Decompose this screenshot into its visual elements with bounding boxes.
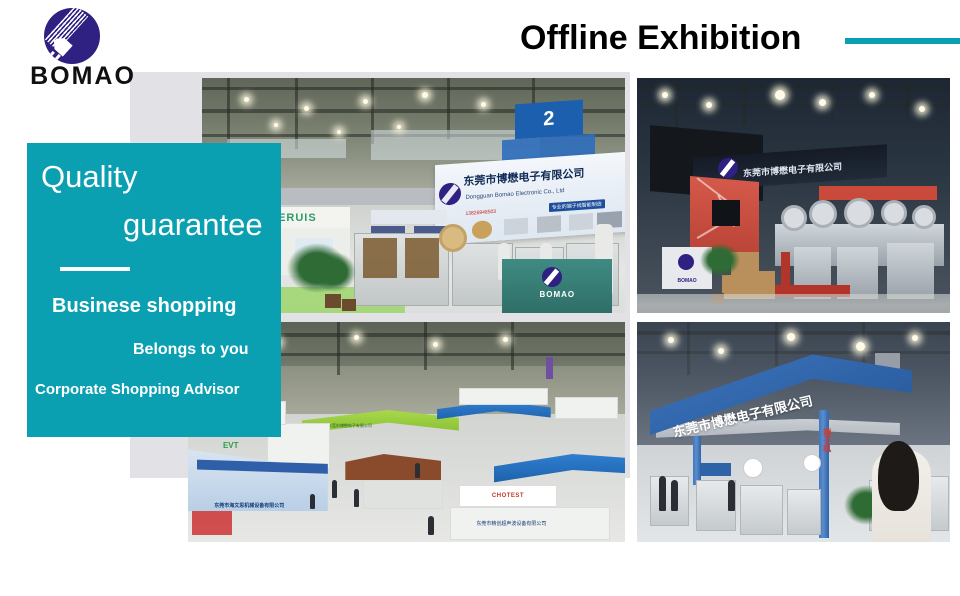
banner-phone: 13826948503 xyxy=(465,209,496,217)
counter-brand-label: BOMAO xyxy=(502,290,612,299)
card-line-2: guarantee xyxy=(123,207,263,243)
banner-tagline: 专业的端子线智能制造 xyxy=(548,199,604,212)
booth-evt-label: EVT xyxy=(223,441,239,450)
banner-title-en: Dongguan Bomao Electronic Co., Ltd xyxy=(465,188,564,201)
brand-name: BOMAO xyxy=(18,62,148,91)
card-line-1: Quality xyxy=(41,159,137,195)
card-line-3: Businese shopping xyxy=(52,295,236,318)
brand-logo: BOMAO xyxy=(18,6,148,86)
card-divider xyxy=(60,267,130,271)
booth-name-cn: 东莞市海文思机械设备有限公司 xyxy=(214,502,284,509)
pillar-label-cn: 端子机 xyxy=(822,428,833,452)
gallery-photo-top-right[interactable]: 东莞市博懋电子有限公司 BOMAO xyxy=(637,78,950,313)
bomao-plug-logo-icon xyxy=(44,8,100,64)
banner-title-cn: 东莞市博懋电子有限公司 xyxy=(463,164,584,188)
booth-counter: BOMAO xyxy=(502,259,612,313)
title-accent-rule xyxy=(845,38,960,44)
booth-chotest-label: CHOTEST xyxy=(459,485,557,507)
quality-guarantee-card: Quality guarantee Businese shopping Belo… xyxy=(27,143,281,437)
card-line-5: Corporate Shopping Advisor xyxy=(35,381,239,398)
page-title: Offline Exhibition xyxy=(520,19,801,58)
hall-number-sign: 2 xyxy=(515,99,583,139)
card-line-4: Belongs to you xyxy=(133,341,249,359)
gallery-photo-bottom-right[interactable]: 东莞市博懋电子有限公司 端子机 xyxy=(637,322,950,542)
